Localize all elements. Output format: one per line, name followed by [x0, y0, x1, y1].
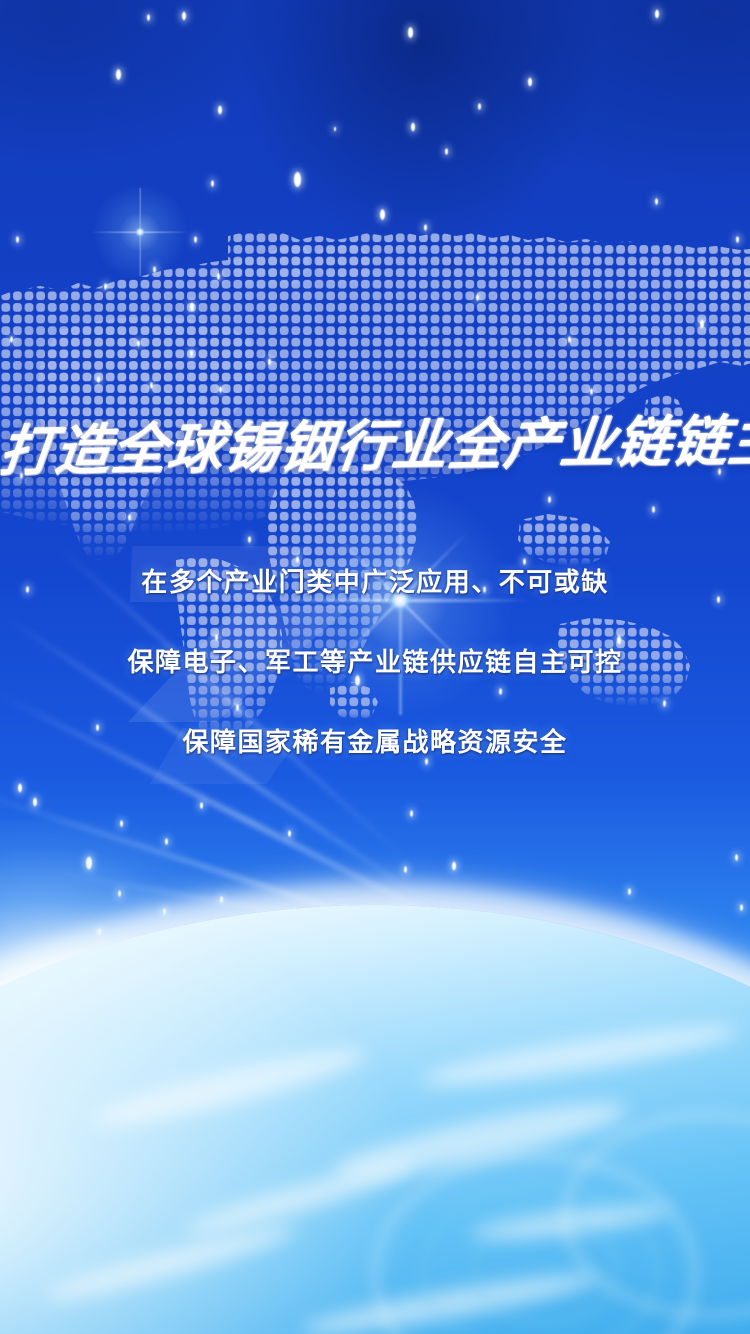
cloud-layer [0, 1000, 750, 1334]
page-title: 打造全球锡铟行业全产业链链主 [0, 413, 750, 478]
subtitle-line-2: 保障电子、军工等产业链供应链自主可控 [0, 642, 750, 679]
poster-canvas: 打造全球锡铟行业全产业链链主 在多个产业门类中广泛应用、不可或缺 保障电子、军工… [0, 0, 750, 1334]
subtitle-line-3: 保障国家稀有金属战略资源安全 [0, 722, 750, 759]
subtitle-line-1: 在多个产业门类中广泛应用、不可或缺 [0, 562, 750, 599]
